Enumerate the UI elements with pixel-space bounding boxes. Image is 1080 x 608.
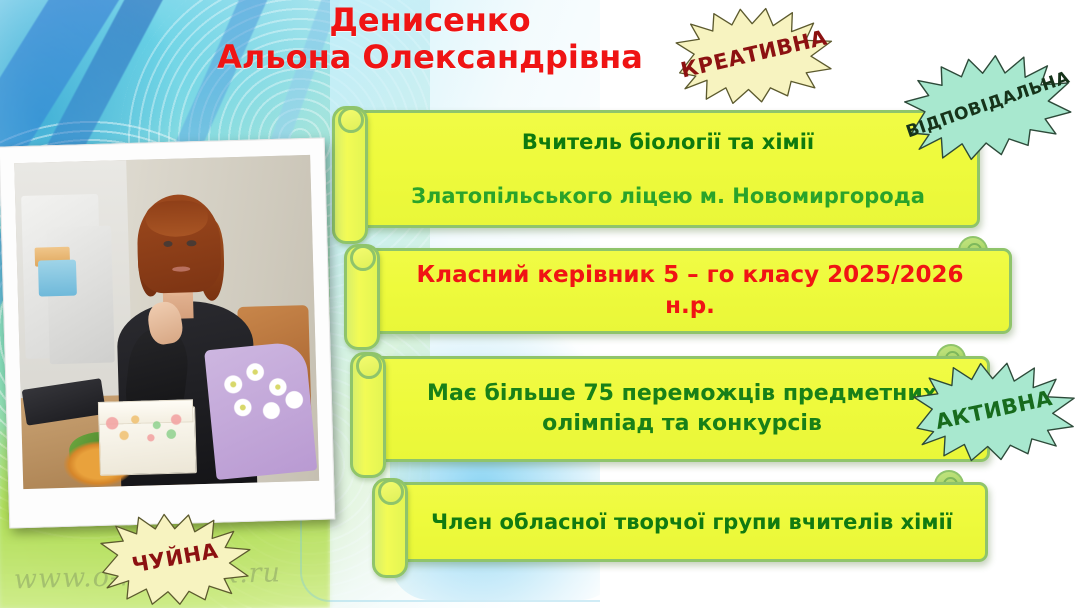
card-line-2: Златопільського ліцею м. Новомиргорода [387,182,949,210]
info-card-membership[interactable]: Член обласної творчої групи вчителів хім… [372,482,988,562]
card-text: Член обласної творчої групи вчителів хім… [393,485,985,559]
card-text: Класний керівник 5 – го класу 2025/2026 … [365,251,1009,331]
card-line-2: олімпіад та конкурсів [405,409,959,439]
card-scroll-spine [350,352,386,478]
card-body: Має більше 75 переможців предметних олім… [368,356,990,462]
teacher-photo-frame [0,138,335,529]
info-card-achievements[interactable]: Має більше 75 переможців предметних олім… [350,356,990,462]
scroll-curl-icon [338,107,364,133]
card-scroll-spine [332,106,368,244]
photo-person-eye-right [187,240,197,246]
photo-person-eye-left [163,240,173,246]
scroll-curl-icon [378,479,404,505]
photo-flower-centers [215,351,306,432]
card-line-1: Має більше 75 переможців предметних [405,379,959,409]
scroll-curl-icon [356,353,382,379]
info-card-role[interactable]: Вчитель біології та хімії Златопільськог… [332,110,980,228]
card-line-1: Член обласної творчої групи вчителів хім… [427,508,957,536]
info-card-homeroom[interactable]: Класний керівник 5 – го класу 2025/2026 … [344,248,1012,334]
scroll-curl-icon [350,245,376,271]
slide-canvas: www.o-rebenok.ru Денисенко Альона Олекса… [0,0,1080,608]
teacher-photo [14,155,319,489]
card-text: Вчитель біології та хімії Златопільськог… [353,113,977,225]
card-scroll-spine [344,244,380,350]
card-body: Класний керівник 5 – го класу 2025/2026 … [362,248,1012,334]
card-line-1: Класний керівник 5 – го класу 2025/2026 … [399,260,981,322]
card-body: Член обласної творчої групи вчителів хім… [390,482,988,562]
card-line-1: Вчитель біології та хімії [387,128,949,156]
page-title-line1: Денисенко [329,1,530,39]
photo-gift-box-pattern [101,409,191,451]
card-body: Вчитель біології та хімії Златопільськог… [350,110,980,228]
photo-blue-object [38,259,77,296]
page-title-line2: Альона Олександрівна [190,39,670,76]
card-text: Має більше 75 переможців предметних олім… [371,359,987,459]
card-scroll-spine [372,478,408,578]
page-title: Денисенко Альона Олександрівна [190,2,670,76]
